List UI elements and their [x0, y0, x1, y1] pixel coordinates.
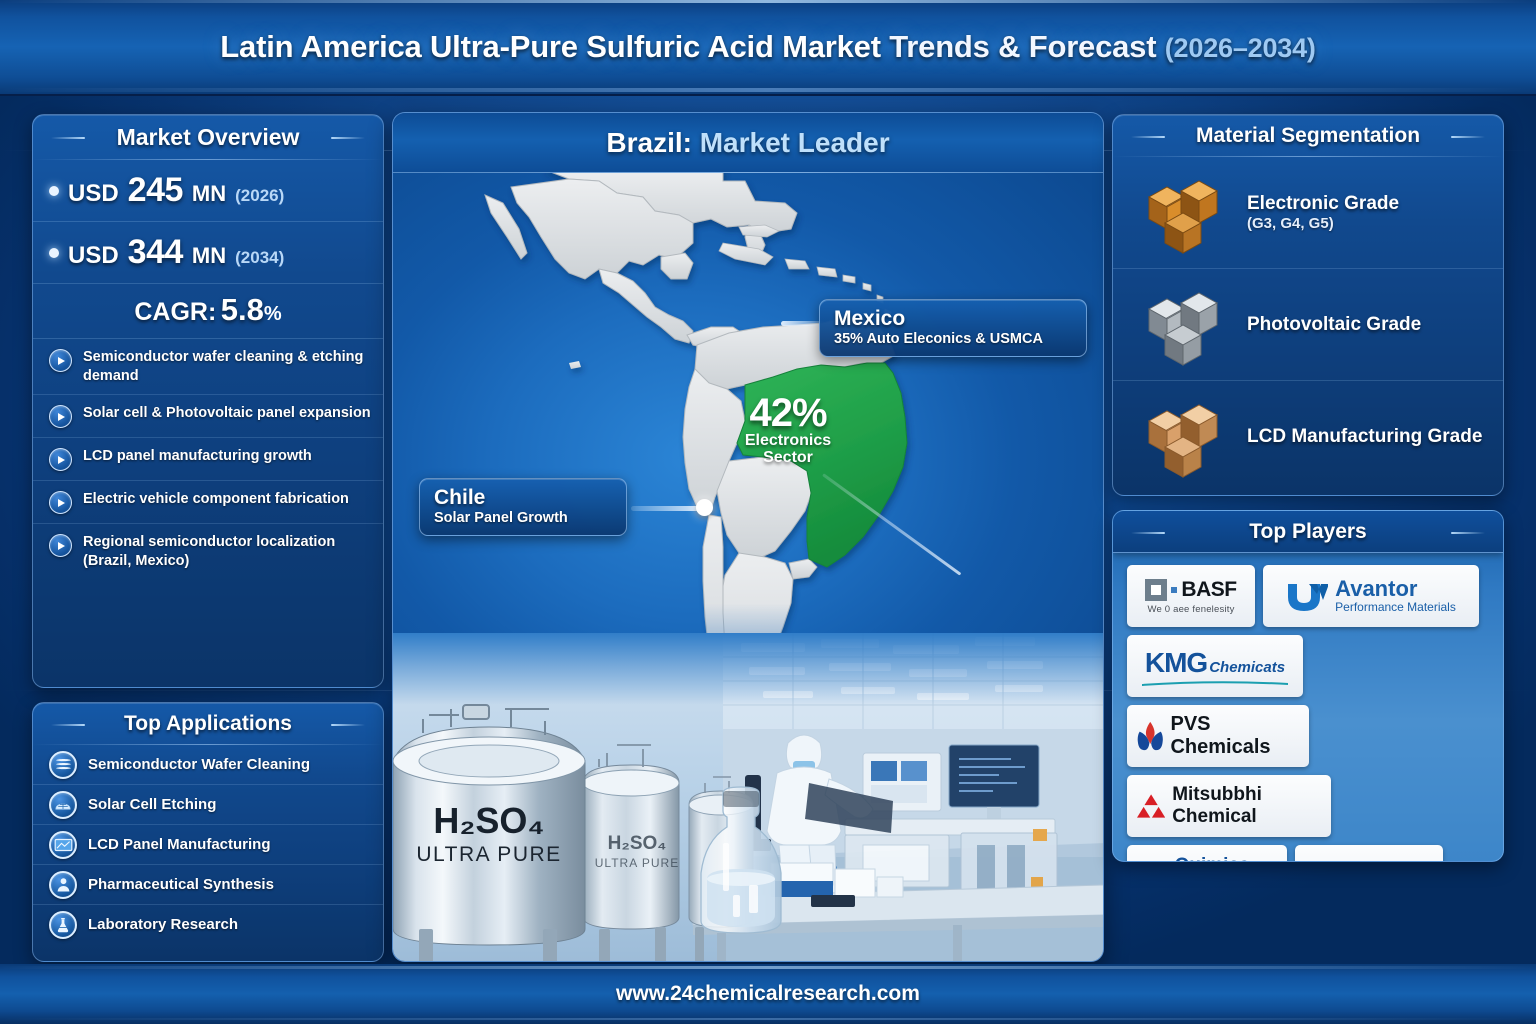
title-rule-right — [331, 724, 365, 726]
page-title-sub: Trends & Forecast — [889, 29, 1156, 64]
material-label-group: Electronic Grade (G3, G4, G5) — [1247, 193, 1399, 232]
cagr-percent-sign: % — [264, 303, 282, 325]
material-item: Electronic Grade (G3, G4, G5) — [1113, 157, 1503, 269]
player-tagline: We 0 aee fenelesity — [1147, 604, 1234, 615]
material-label: LCD Manufacturing Grade — [1247, 426, 1482, 448]
material-label-group: Photovoltaic Grade — [1247, 314, 1421, 336]
stat-unit: MN — [192, 181, 226, 207]
driver-item: LCD panel manufacturing growth — [33, 438, 383, 481]
application-label: Laboratory Research — [88, 916, 238, 933]
application-label: Semiconductor Wafer Cleaning — [88, 756, 310, 773]
stat-row-2026: USD 245 MN (2026) — [33, 160, 383, 222]
title-rule-right — [331, 137, 365, 139]
player-logo-elekeiroz[interactable]: Elekeiroz — [1295, 845, 1443, 862]
brazil-share-callout: 42% Electronics Sector — [723, 393, 853, 467]
mexico-callout-detail: 35% Auto Eleconics & USMCA — [834, 331, 1072, 347]
page-footer: www.24chemicalresearch.com — [0, 964, 1536, 1024]
application-item: LCD Panel Manufacturing — [33, 825, 383, 865]
cube-stack-icon-lcd — [1133, 387, 1233, 486]
cagr-label: CAGR: — [134, 298, 216, 326]
application-label: Solar Cell Etching — [88, 796, 216, 813]
material-item: LCD Manufacturing Grade — [1113, 381, 1503, 492]
chile-callout-detail: Solar Panel Growth — [434, 510, 612, 526]
page-title-years: (2026–2034) — [1165, 33, 1316, 63]
cube-stack-icon-photovoltaic — [1133, 275, 1233, 374]
player-name: KMG — [1145, 647, 1207, 679]
pvs-flame-icon — [1137, 719, 1163, 753]
player-logo-basf[interactable]: BASF We 0 aee fenelesity — [1127, 565, 1255, 627]
chevron-right-icon — [49, 534, 72, 557]
svg-text:ULTRA PURE: ULTRA PURE — [595, 856, 679, 870]
chevron-right-icon — [49, 448, 72, 471]
driver-label: Regional semiconductor localization (Bra… — [83, 533, 371, 570]
player-name: PVS Chemicals — [1170, 713, 1299, 759]
wafer-stack-icon — [49, 751, 77, 779]
map-title-country: Brazil: — [606, 127, 692, 158]
material-segmentation-panel: Material Segmentation — [1112, 114, 1504, 496]
top-applications-panel: Top Applications Semiconductor Wafer Cle… — [32, 702, 384, 962]
top-players-title: Top Players — [1249, 520, 1367, 543]
stat-value: 344 — [128, 233, 183, 272]
chevron-right-icon — [49, 405, 72, 428]
title-rule-left — [51, 724, 85, 726]
player-name: Quimica Apollo — [1175, 856, 1277, 862]
mexico-callout[interactable]: Mexico 35% Auto Eleconics & USMCA — [819, 299, 1087, 357]
player-name: BASF — [1181, 578, 1236, 602]
mitsubishi-diamonds-icon — [1137, 791, 1165, 821]
player-name: Mitsubbhi Chemical — [1172, 784, 1321, 828]
stat-unit: MN — [192, 243, 226, 269]
driver-label: Solar cell & Photovoltaic panel expansio… — [83, 404, 371, 423]
facility-photo: H₂SO₄ ULTRA PURE H₂SO₄ ULTRA PURE — [393, 633, 1103, 962]
quimica-circle-icon — [1137, 856, 1167, 862]
player-name: Avantor — [1335, 578, 1456, 600]
material-item: Photovoltaic Grade — [1113, 269, 1503, 381]
chile-callout[interactable]: Chile Solar Panel Growth — [419, 478, 627, 536]
stat-year: (2034) — [235, 248, 284, 268]
driver-item: Semiconductor wafer cleaning & etching d… — [33, 339, 383, 395]
driver-label: Electric vehicle component fabrication — [83, 490, 349, 509]
application-label: LCD Panel Manufacturing — [88, 836, 271, 853]
title-rule-right — [1451, 532, 1485, 534]
chevron-right-icon — [49, 349, 72, 372]
page-title: Latin America Ultra-Pure Sulfuric Acid M… — [220, 29, 1315, 65]
svg-text:H₂SO₄: H₂SO₄ — [608, 833, 667, 854]
avantor-uv-icon — [1286, 581, 1328, 611]
driver-label: Semiconductor wafer cleaning & etching d… — [83, 348, 371, 385]
top-players-panel: Top Players BASF We 0 aee fenelesity — [1112, 510, 1504, 862]
player-logo-kmg[interactable]: KMG Chemicats — [1127, 635, 1303, 697]
stat-currency: USD — [68, 180, 119, 208]
chile-leader-line — [631, 506, 703, 511]
driver-item: Regional semiconductor localization (Bra… — [33, 524, 383, 579]
material-segmentation-title-bar: Material Segmentation — [1113, 115, 1503, 156]
player-logo-quimica-apollo[interactable]: Quimica Apollo — [1127, 845, 1287, 862]
brazil-share-line2: Sector — [723, 450, 853, 467]
tank-label-formula: H₂SO₄ — [433, 800, 544, 841]
title-rule-left — [1131, 532, 1165, 534]
application-item: Laboratory Research — [33, 905, 383, 944]
top-players-title-bar: Top Players — [1113, 511, 1503, 553]
chevron-right-icon — [49, 491, 72, 514]
title-rule-left — [1131, 136, 1165, 138]
material-label-group: LCD Manufacturing Grade — [1247, 426, 1482, 448]
cagr-row: CAGR: 5.8% — [33, 284, 383, 339]
top-applications-title: Top Applications — [124, 712, 292, 735]
map-panel-title: Brazil: Market Leader — [606, 127, 889, 159]
player-logo-avantor[interactable]: Avantor Performance Materials — [1263, 565, 1479, 627]
driver-item: Electric vehicle component fabrication — [33, 481, 383, 524]
brazil-share-line1: Electronics — [723, 433, 853, 450]
market-overview-title: Market Overview — [117, 124, 300, 150]
stat-value: 245 — [128, 171, 183, 210]
cagr-value: 5.8 — [221, 292, 264, 327]
basf-square-icon — [1145, 579, 1167, 601]
market-overview-panel: Market Overview USD 245 MN (2026) USD 34… — [32, 114, 384, 688]
map-panel: Brazil: Market Leader — [392, 112, 1104, 962]
brazil-share-percent: 42% — [723, 393, 853, 433]
driver-item: Solar cell & Photovoltaic panel expansio… — [33, 395, 383, 438]
chile-callout-title: Chile — [434, 486, 612, 510]
title-rule-right — [1451, 136, 1485, 138]
cube-stack-icon-electronic — [1133, 163, 1233, 262]
bullet-dot-icon — [49, 248, 59, 258]
mexico-callout-title: Mexico — [834, 307, 1072, 331]
chile-map-pin — [696, 499, 713, 516]
player-logo-mitsubishi[interactable]: Mitsubbhi Chemical — [1127, 775, 1331, 837]
pill-person-icon — [49, 871, 77, 899]
kmg-underline-icon — [1140, 679, 1290, 686]
title-rule-left — [51, 137, 85, 139]
application-label: Pharmaceutical Synthesis — [88, 876, 274, 893]
footer-url[interactable]: www.24chemicalresearch.com — [616, 982, 920, 1006]
facility-photo-graphic: H₂SO₄ ULTRA PURE H₂SO₄ ULTRA PURE — [393, 633, 1103, 962]
lcd-monitor-icon — [49, 831, 77, 859]
page-header: Latin America Ultra-Pure Sulfuric Acid M… — [0, 0, 1536, 96]
page-title-main: Latin America Ultra-Pure Sulfuric Acid M… — [220, 29, 881, 64]
stat-year: (2026) — [235, 186, 284, 206]
top-applications-title-bar: Top Applications — [33, 703, 383, 744]
driver-label: LCD panel manufacturing growth — [83, 447, 312, 466]
player-tagline: Chemicats — [1209, 659, 1285, 676]
application-item: Solar Cell Etching — [33, 785, 383, 825]
map-panel-title-bar: Brazil: Market Leader — [393, 113, 1103, 173]
elekeiroz-diamond-icon — [1305, 861, 1334, 862]
stat-currency: USD — [68, 242, 119, 270]
bullet-dot-icon — [49, 186, 59, 196]
flask-icon — [49, 911, 77, 939]
player-tagline: Performance Materials — [1335, 600, 1456, 614]
material-label: Electronic Grade — [1247, 193, 1399, 215]
material-segmentation-title: Material Segmentation — [1196, 124, 1420, 147]
tank-label-sub: ULTRA PURE — [416, 843, 561, 866]
application-item: Pharmaceutical Synthesis — [33, 865, 383, 905]
market-overview-title-bar: Market Overview — [33, 115, 383, 159]
material-label: Photovoltaic Grade — [1247, 314, 1421, 336]
player-logo-pvs[interactable]: PVS Chemicals — [1127, 705, 1309, 767]
application-item: Semiconductor Wafer Cleaning — [33, 745, 383, 785]
material-sublabel: (G3, G4, G5) — [1247, 215, 1399, 232]
solar-panel-icon — [49, 791, 77, 819]
stat-row-2034: USD 344 MN (2034) — [33, 222, 383, 284]
latin-america-map: 42% Electronics Sector Mexico 35% Auto E… — [393, 173, 1103, 962]
top-players-logo-grid: BASF We 0 aee fenelesity Avantor Perform… — [1113, 553, 1503, 862]
map-title-role: Market Leader — [700, 127, 890, 158]
